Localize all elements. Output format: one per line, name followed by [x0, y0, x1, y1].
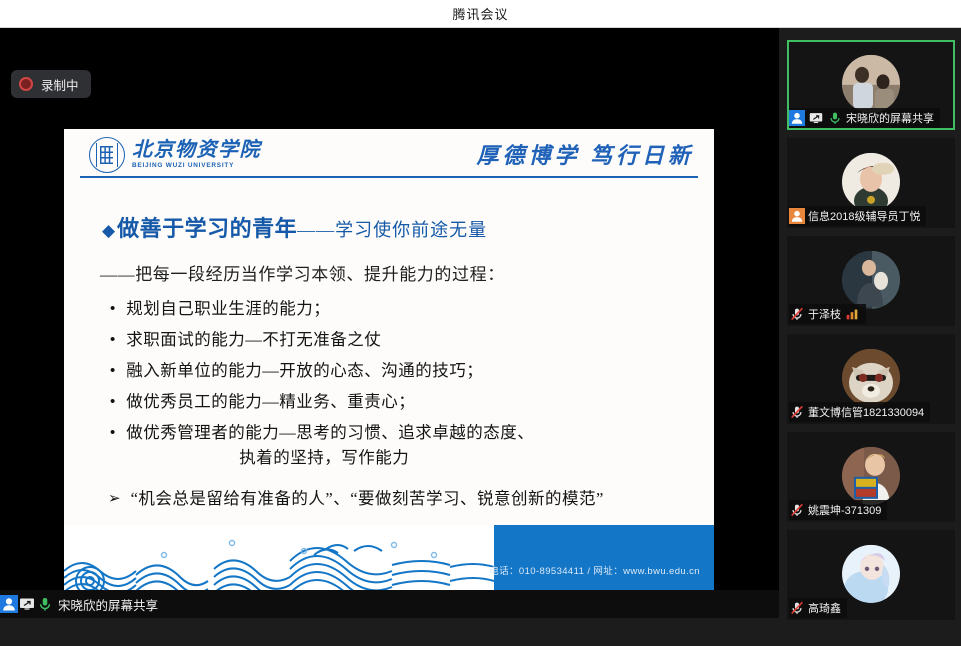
bullet-text: 做优秀员工的能力—精业务、重责心； — [126, 389, 415, 414]
participant-sidebar[interactable]: 宋晓欣的屏幕共享 — [781, 28, 961, 646]
avatar-photo-anime — [842, 545, 900, 603]
participant-name: 于泽枝 — [808, 306, 841, 322]
participant-name: 信息2018级辅导员丁悦 — [808, 208, 920, 224]
participant-tile[interactable]: 于泽枝 — [787, 236, 955, 326]
list-item: • 融入新单位的能力—开放的心态、沟通的技巧； — [110, 358, 690, 383]
participant-name-bar: 于泽枝 — [789, 304, 866, 324]
arrow-bullet-icon: ➢ — [108, 486, 121, 512]
host-icon — [789, 110, 805, 126]
microphone-muted-icon — [789, 404, 805, 420]
participant-tile[interactable]: 董文博信管1821330094 — [787, 334, 955, 424]
university-name-cn: 北京物资学院 — [132, 139, 261, 161]
slide-title: ◆ 做善于学习的青年 ——学习使你前途无量 — [102, 211, 487, 243]
meeting-area: 录制中 北京物资学院 BEIJING WUZI UNIVERSITY 厚德博学 … — [0, 28, 961, 646]
participant-tile[interactable]: 姚震坤-371309 — [787, 432, 955, 522]
bullet-text: 做优秀管理者的能力—思考的习惯、追求卓越的态度、 — [126, 423, 534, 442]
list-item: • 做优秀员工的能力—精业务、重责心； — [110, 389, 690, 414]
slide-quote: ➢ “机会总是留给有准备的人”、“要做刻苦学习、锐意创新的模范” — [108, 486, 678, 512]
avatar — [842, 349, 900, 407]
signal-bars-icon — [844, 306, 860, 322]
university-motto: 厚德博学 笃行日新 — [476, 138, 694, 170]
presenter-name: 宋晓欣的屏幕共享 — [58, 595, 158, 614]
microphone-icon — [36, 595, 54, 613]
list-item: • 求职面试的能力—不打无准备之仗 — [110, 327, 690, 352]
slide-footer-contact: 电话：010-89534411 / 网址：www.bwu.edu.cn — [489, 563, 700, 577]
participant-name-bar: 信息2018级辅导员丁悦 — [789, 206, 926, 226]
bullet-text: 融入新单位的能力—开放的心态、沟通的技巧； — [126, 358, 483, 383]
bullet-text: 规划自己职业生涯的能力； — [126, 296, 330, 321]
participant-tile[interactable]: 高琦鑫 — [787, 530, 955, 620]
bullet-dot-icon: • — [110, 358, 115, 383]
bullet-dot-icon: • — [110, 296, 115, 321]
host-badge-icon — [789, 208, 805, 224]
slide-title-sub: ——学习使你前途无量 — [297, 216, 487, 242]
slide-bullet-list: • 规划自己职业生涯的能力； • 求职面试的能力—不打无准备之仗 • 融入新单位… — [110, 296, 690, 476]
participant-tile[interactable]: 宋晓欣的屏幕共享 — [787, 40, 955, 130]
recording-label: 录制中 — [41, 75, 79, 94]
screen-share-icon — [18, 595, 36, 613]
bullet-text-continuation: 执着的坚持，写作能力 — [126, 445, 534, 470]
bullet-text: 求职面试的能力—不打无准备之仗 — [126, 327, 381, 352]
recording-indicator: 录制中 — [11, 70, 91, 98]
microphone-icon — [827, 110, 843, 126]
participant-name-bar: 董文博信管1821330094 — [789, 402, 930, 422]
bullet-dot-icon: • — [110, 389, 115, 414]
title-bar: 腾讯会议 — [0, 0, 961, 28]
university-seal-icon — [89, 137, 125, 173]
participant-name-bar: 姚震坤-371309 — [789, 500, 887, 520]
avatar — [842, 447, 900, 505]
microphone-muted-icon — [789, 502, 805, 518]
header-divider — [80, 176, 698, 178]
participant-name-bar: 宋晓欣的屏幕共享 — [789, 108, 940, 128]
avatar — [842, 55, 900, 113]
avatar — [842, 545, 900, 603]
participant-name: 姚震坤-371309 — [808, 502, 881, 518]
slide-title-main: 做善于学习的青年 — [117, 211, 297, 243]
diamond-bullet-icon: ◆ — [102, 221, 115, 241]
microphone-muted-icon — [789, 306, 805, 322]
presentation-slide: 北京物资学院 BEIJING WUZI UNIVERSITY 厚德博学 笃行日新… — [64, 129, 714, 601]
slide-header: 北京物资学院 BEIJING WUZI UNIVERSITY 厚德博学 笃行日新 — [64, 129, 714, 181]
app-title: 腾讯会议 — [452, 4, 508, 23]
participant-name: 高琦鑫 — [808, 600, 841, 616]
university-name-en: BEIJING WUZI UNIVERSITY — [132, 163, 261, 169]
tencent-meeting-window: 腾讯会议 录制中 北京物资学院 BEIJING WUZI UNIVERSITY — [0, 0, 961, 646]
slide-lead-text: ——把每一段经历当作学习本领、提升能力的过程： — [100, 260, 505, 285]
avatar-photo-woman-hat — [842, 153, 900, 211]
avatar — [842, 251, 900, 309]
avatar-photo-person — [842, 251, 900, 309]
bullet-dot-icon: • — [110, 327, 115, 352]
participant-name-bar: 高琦鑫 — [789, 598, 847, 618]
screen-share-icon — [808, 110, 824, 126]
avatar-photo-boy-reading — [842, 447, 900, 505]
university-logo: 北京物资学院 BEIJING WUZI UNIVERSITY — [89, 137, 261, 173]
shared-screen-stage[interactable]: 录制中 北京物资学院 BEIJING WUZI UNIVERSITY 厚德博学 … — [0, 28, 779, 618]
avatar-photo-dog — [842, 349, 900, 407]
host-icon — [0, 595, 18, 613]
presenter-status-bar: 宋晓欣的屏幕共享 — [0, 590, 779, 618]
record-dot-icon — [19, 77, 33, 91]
list-item: • 规划自己职业生涯的能力； — [110, 296, 690, 321]
avatar — [842, 153, 900, 211]
participant-tile[interactable]: 信息2018级辅导员丁悦 — [787, 138, 955, 228]
list-item: • 做优秀管理者的能力—思考的习惯、追求卓越的态度、 执着的坚持，写作能力 — [110, 420, 690, 470]
participant-name: 宋晓欣的屏幕共享 — [846, 110, 934, 126]
participant-name: 董文博信管1821330094 — [808, 404, 924, 420]
avatar-photo-children — [842, 55, 900, 113]
quote-text: “机会总是留给有准备的人”、“要做刻苦学习、锐意创新的模范” — [131, 486, 604, 512]
bullet-dot-icon: • — [110, 420, 115, 445]
microphone-muted-icon — [789, 600, 805, 616]
